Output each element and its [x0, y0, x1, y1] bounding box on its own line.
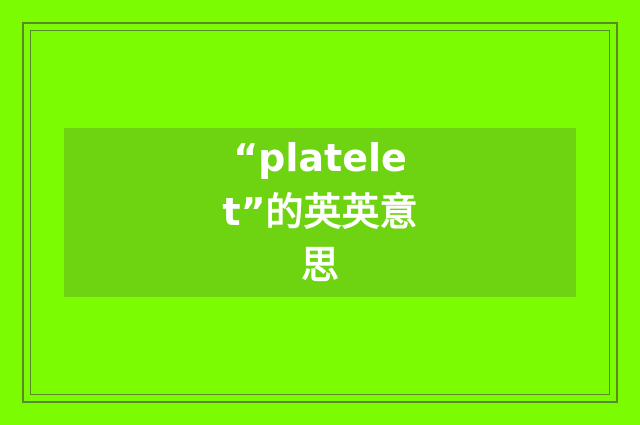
title-panel: “platelet”的英英意思	[64, 128, 576, 297]
page-canvas: “platelet”的英英意思	[0, 0, 640, 425]
page-title: “platelet”的英英意思	[220, 132, 420, 294]
